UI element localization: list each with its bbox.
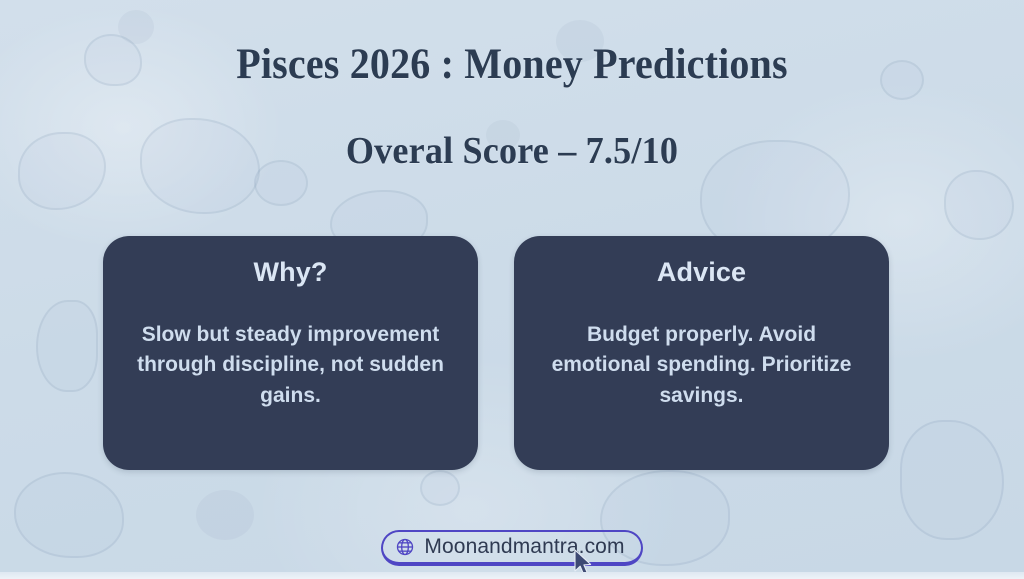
why-card: Why? Slow but steady improvement through… bbox=[103, 236, 478, 470]
advice-card: Advice Budget properly. Avoid emotional … bbox=[514, 236, 889, 470]
page-title: Pisces 2026 : Money Predictions bbox=[36, 40, 988, 89]
background-doodle bbox=[900, 420, 1004, 540]
bottom-strip bbox=[0, 572, 1024, 579]
cards-container: Why? Slow but steady improvement through… bbox=[103, 236, 889, 470]
website-badge-label: Moonandmantra.com bbox=[424, 535, 624, 559]
background-doodle bbox=[420, 470, 460, 506]
background-doodle bbox=[118, 10, 154, 44]
why-card-body: Slow but steady improvement through disc… bbox=[126, 320, 456, 411]
advice-card-body: Budget properly. Avoid emotional spendin… bbox=[537, 320, 867, 411]
advice-card-title: Advice bbox=[657, 258, 746, 288]
globe-icon bbox=[395, 537, 415, 557]
website-badge[interactable]: Moonandmantra.com bbox=[381, 530, 642, 566]
background-doodle bbox=[944, 170, 1014, 240]
slide-canvas: Pisces 2026 : Money Predictions Overal S… bbox=[0, 0, 1024, 579]
background-doodle bbox=[36, 300, 98, 392]
footer-badge-wrap: Moonandmantra.com bbox=[0, 530, 1024, 566]
why-card-title: Why? bbox=[254, 258, 328, 288]
overall-score-subtitle: Overal Score – 7.5/10 bbox=[26, 129, 999, 173]
